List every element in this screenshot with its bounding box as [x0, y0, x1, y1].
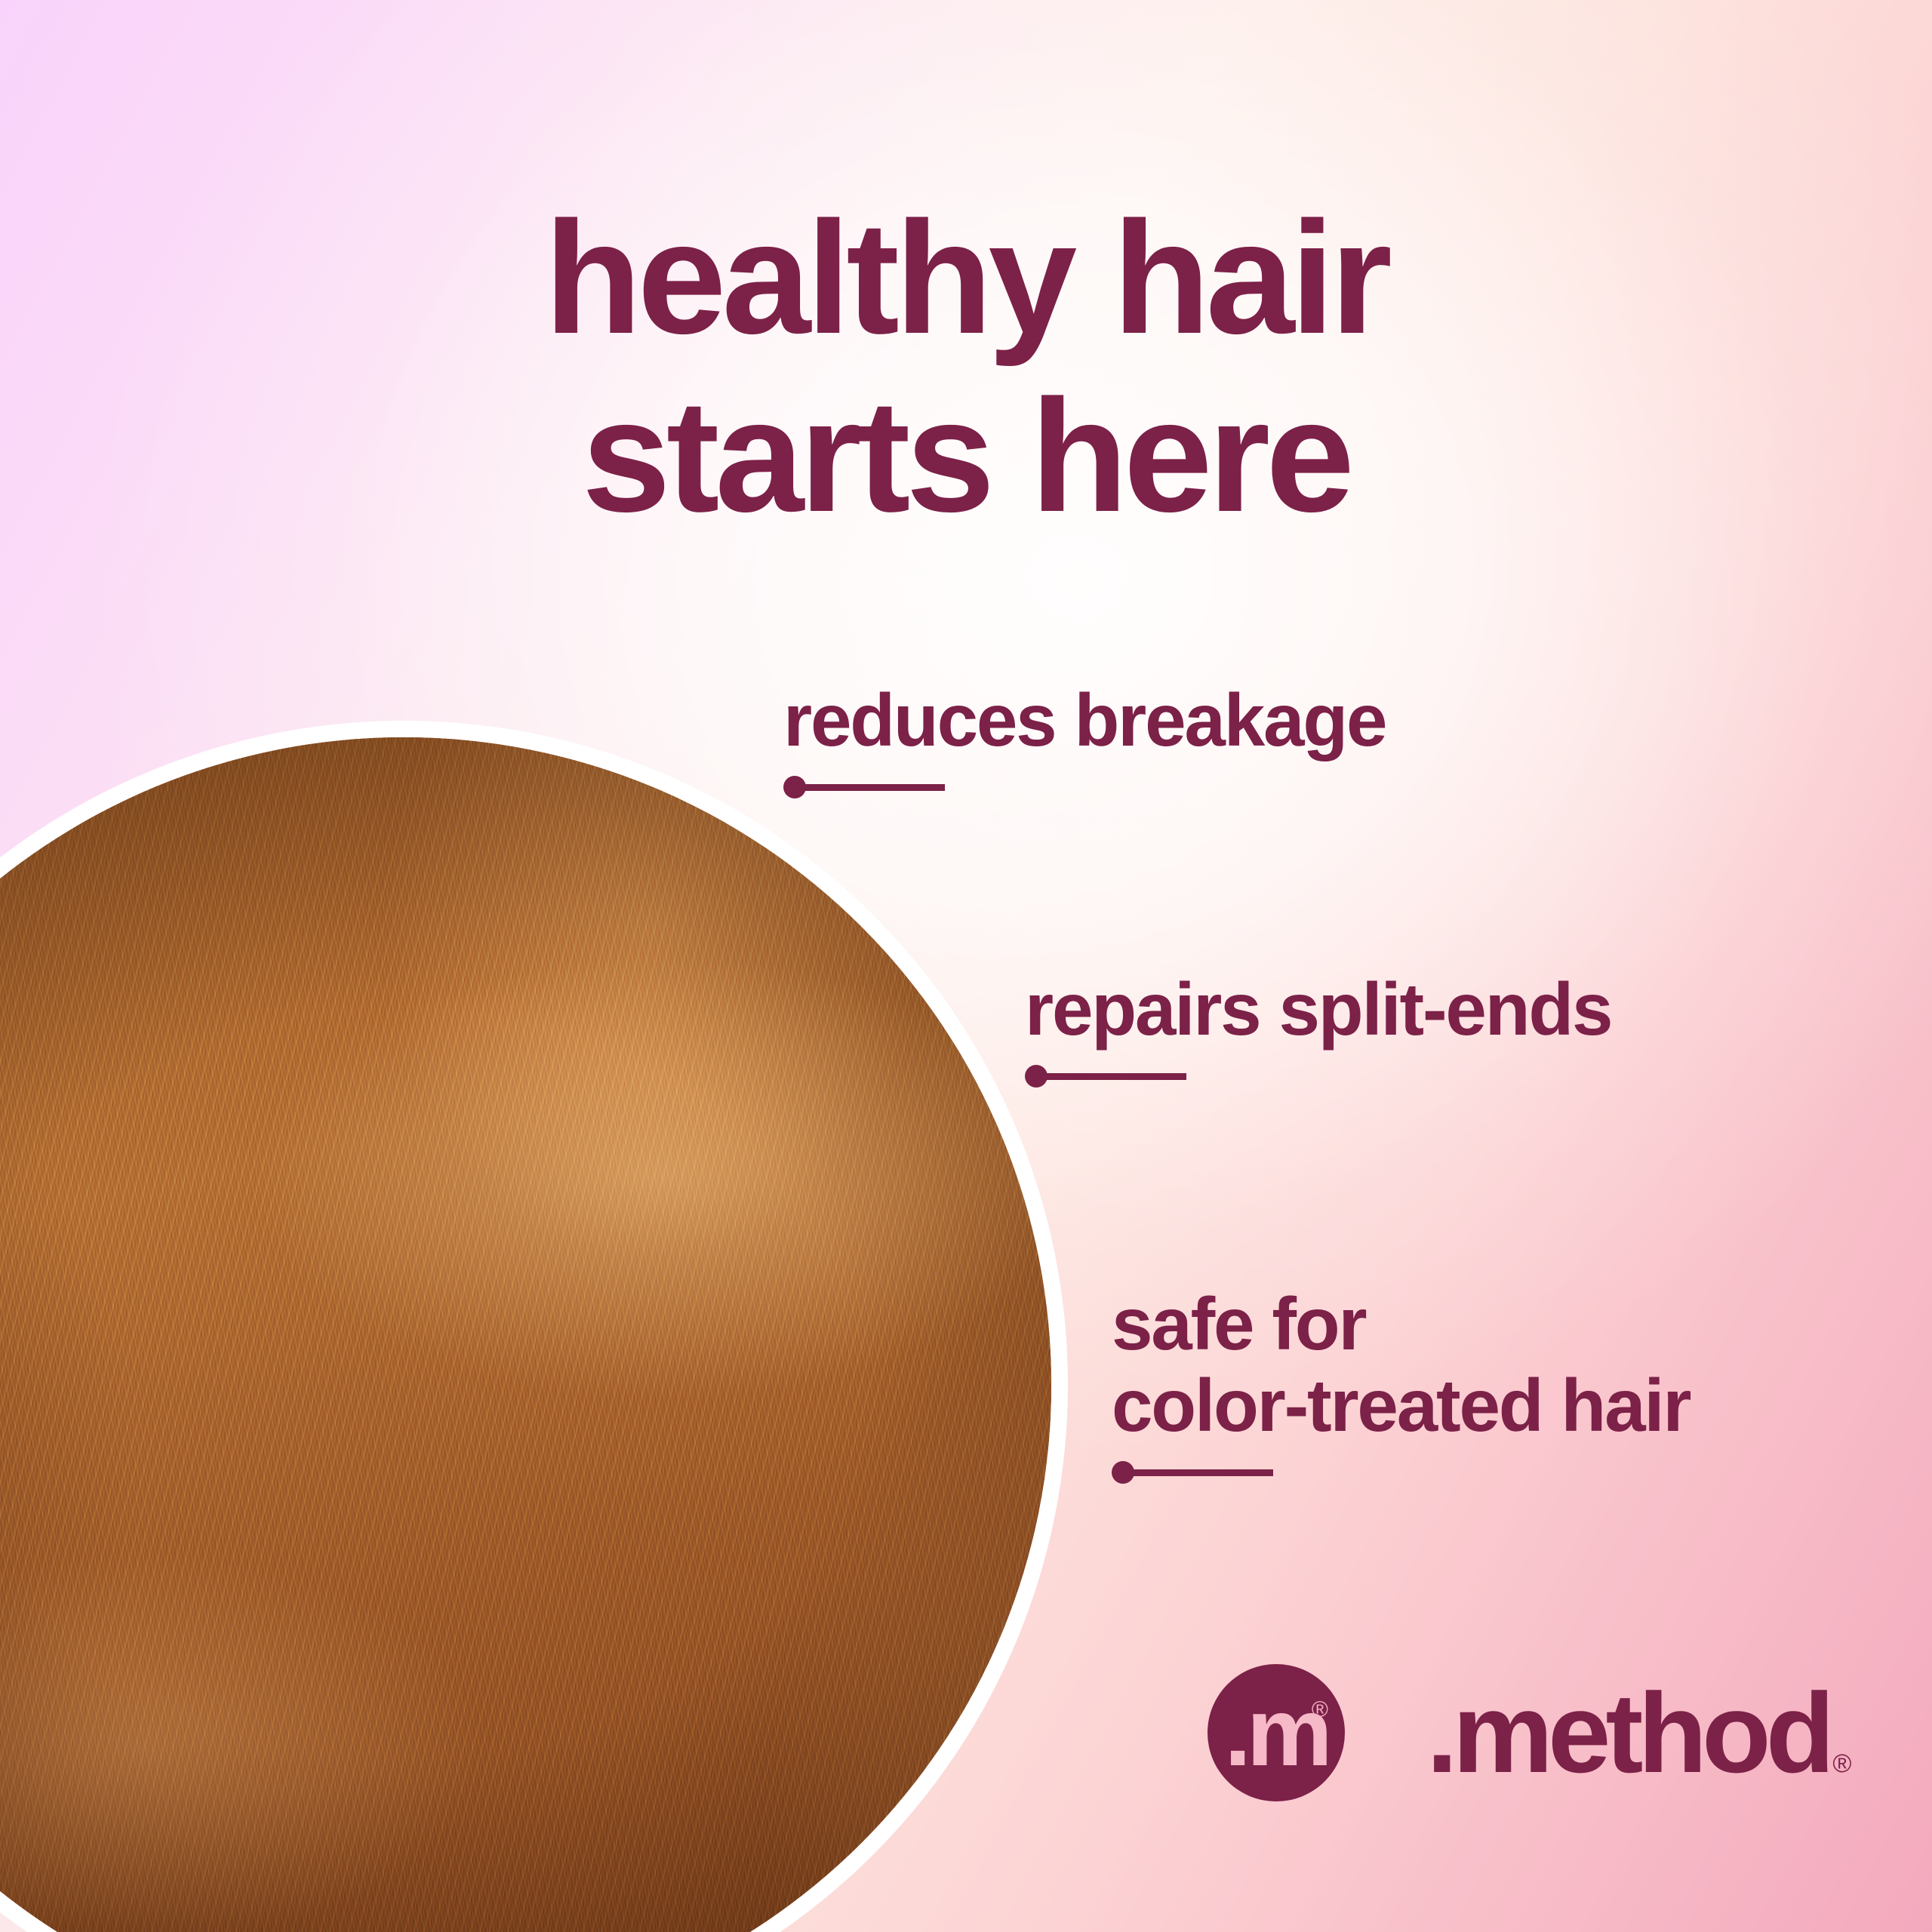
dot-line-pointer-icon [1025, 1060, 1611, 1091]
method-circle-logomark-icon: .m ® [1207, 1664, 1345, 1801]
dot-line-pointer-icon [1112, 1457, 1690, 1487]
feature-label: repairs split-ends [1025, 968, 1611, 1050]
pointer-line-icon [1130, 1469, 1273, 1476]
feature-label: reduces breakage [783, 679, 1386, 761]
hair-strands-fine [0, 737, 1051, 1932]
page-title: healthy hair starts here [0, 189, 1932, 545]
wordmark-registered-icon: ® [1832, 1749, 1851, 1778]
hair-photo-circle [0, 721, 1068, 1932]
feature-callout: safe for color-treated hair [1112, 1283, 1690, 1487]
wordmark-text: .method [1426, 1669, 1829, 1796]
pointer-line-icon [801, 784, 945, 791]
feature-label: safe for color-treated hair [1112, 1283, 1690, 1446]
method-wordmark: .method® [1426, 1676, 1851, 1789]
hair-photo [0, 737, 1051, 1932]
logomark-registered-icon: ® [1312, 1699, 1328, 1721]
feature-callout: reduces breakage [783, 679, 1386, 801]
dot-line-pointer-icon [783, 771, 1386, 801]
brand-logo: .m ® .method® [1207, 1664, 1851, 1801]
pointer-line-icon [1043, 1073, 1186, 1080]
feature-callout: repairs split-ends [1025, 968, 1611, 1091]
promo-canvas: healthy hair starts here reduces breakag… [0, 0, 1932, 1932]
